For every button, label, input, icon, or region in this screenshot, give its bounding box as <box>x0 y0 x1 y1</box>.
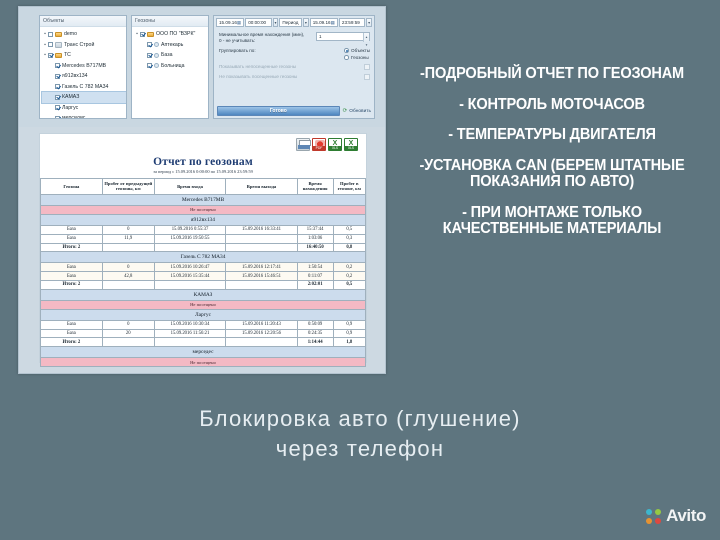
cell-4: 0:11:07 <box>297 272 333 281</box>
pdf-icon[interactable] <box>312 138 326 151</box>
total-cell-0: Итого: 2 <box>41 243 103 252</box>
cell-3: 15.09.2016 12:17:41 <box>226 263 298 272</box>
period-select[interactable]: Период <box>279 18 302 27</box>
total-cell-3 <box>226 338 298 347</box>
total-cell-5: 0,5 <box>333 280 366 289</box>
cell-5: 0,9 <box>333 329 366 338</box>
cell-4: 0:50:09 <box>297 320 333 329</box>
date-range-row[interactable]: ▦ 15.09.16 00:00:00 ▾ Период ▾ ▦ 15.09.1… <box>214 16 374 27</box>
group-name: КАМАЗ <box>41 289 366 300</box>
checkbox-icon[interactable] <box>55 105 60 110</box>
refresh-button[interactable]: ⟳ Обновить <box>343 108 371 114</box>
ad-image-root: Объекты ▪demo▪Транс Строй▪ТСMercedes B71… <box>0 0 720 540</box>
export-toolbar[interactable] <box>296 138 358 151</box>
cell-1: 0 <box>102 320 154 329</box>
cell-3: 15.09.2016 11:20:43 <box>226 320 298 329</box>
time-from-stepper[interactable]: ▾ <box>273 18 279 27</box>
cell-5: 0,9 <box>333 320 366 329</box>
geozones-panel-title: Геозоны <box>132 16 208 27</box>
cell-2: 15.09.2016 10:26:47 <box>154 263 226 272</box>
table-row: База11,915.09.2016 19:50:551:03:060,3 <box>41 234 366 243</box>
checkbox-icon[interactable] <box>55 95 60 100</box>
not-visited-row: Не посещено <box>41 300 366 309</box>
tree-item-label: ТС <box>64 50 71 61</box>
not-visited-label: Не посещено <box>41 300 366 309</box>
not-visited-row: Не посещено <box>41 205 366 214</box>
group-name: Mercedes B717MB <box>41 194 366 205</box>
object-item-4[interactable]: я912вх134 <box>42 71 126 82</box>
folder-gray-icon <box>55 42 62 48</box>
geozone-item-1[interactable]: Аптекарь <box>134 40 208 51</box>
ad-bullet-2: - Температуры двигателя <box>402 127 703 144</box>
geozone-report-table: ГеозонаПробег от предыдущей геозоны, кмВ… <box>40 178 366 367</box>
time-to-input[interactable]: 23:59:59 <box>339 18 365 27</box>
checkbox-icon[interactable] <box>140 32 145 37</box>
tree-item-label: Больница <box>161 61 185 72</box>
cell-3: 15.09.2016 15:46:51 <box>226 272 298 281</box>
tree-item-label: КАМАЗ <box>62 92 79 103</box>
report-sheet: Отчет по геозонам за период с 15.09.2016… <box>39 133 367 363</box>
total-cell-0: Итого: 2 <box>41 338 103 347</box>
options-body: Минимальное время нахождения (мин), 0 - … <box>214 27 374 80</box>
period-dropdown-icon[interactable]: ▾ <box>303 18 309 27</box>
table-row: База015.09.2016 0:55:3715.09.2016 16:33:… <box>41 226 366 235</box>
total-cell-4: 2:02:01 <box>297 280 333 289</box>
checkbox-icon[interactable] <box>55 63 60 68</box>
cell-5: 0,5 <box>333 226 366 235</box>
group-header-row: Ларгус <box>41 309 366 320</box>
show-unvisited-row: Показывать непосещенные геозоны <box>219 64 370 70</box>
avito-label: Avito <box>666 506 706 526</box>
cell-0: База <box>41 234 103 243</box>
hide-visited-checkbox <box>364 74 370 80</box>
report-options-panel[interactable]: ▦ 15.09.16 00:00:00 ▾ Период ▾ ▦ 15.09.1… <box>213 15 375 119</box>
tree-item-label: Ларгус <box>62 103 78 114</box>
ad-bottom-line-2: через телефон <box>0 434 720 464</box>
cell-5: 0,2 <box>333 263 366 272</box>
checkbox-icon[interactable] <box>147 63 152 68</box>
total-cell-0: Итого: 2 <box>41 280 103 289</box>
total-cell-1 <box>102 338 154 347</box>
cell-2: 15.09.2016 0:55:37 <box>154 226 226 235</box>
geozone-item-3[interactable]: Больница <box>134 61 208 72</box>
table-row: База2015.09.2016 11:56:2115.09.2016 12:2… <box>41 329 366 338</box>
group-by-radios[interactable]: Объекты Геозоны <box>344 48 370 60</box>
total-cell-4: 16:40:50 <box>297 243 333 252</box>
object-item-2[interactable]: ▪ТС <box>42 50 126 61</box>
column-header-4: Время нахождения <box>297 179 333 195</box>
hide-visited-label: Не показывать посещенные геозоны <box>219 74 297 80</box>
avito-logo-icon <box>646 509 661 524</box>
print-icon[interactable] <box>296 138 310 151</box>
cell-1: 20 <box>102 329 154 338</box>
radio-group-geozones[interactable]: Геозоны <box>344 55 370 60</box>
folder-icon <box>55 53 62 59</box>
checkbox-icon[interactable] <box>48 42 53 47</box>
column-header-5: Пробег в геозоне, км <box>333 179 366 195</box>
refresh-icon: ⟳ <box>343 108 348 114</box>
total-cell-1 <box>102 243 154 252</box>
total-cell-4: 1:14:44 <box>297 338 333 347</box>
ad-bullet-0: -Подробный отчет по геозонам <box>402 66 703 83</box>
tree-item-label: Mercedes B717MB <box>62 61 106 72</box>
total-cell-1 <box>102 280 154 289</box>
cell-0: База <box>41 320 103 329</box>
group-header-row: я912вх134 <box>41 215 366 226</box>
cell-3: 15.09.2016 12:20:56 <box>226 329 298 338</box>
min-time-value: 1 <box>317 33 369 41</box>
table-row: База015.09.2016 10:26:4715.09.2016 12:17… <box>41 263 366 272</box>
geozone-icon <box>154 53 159 58</box>
object-item-0[interactable]: ▪demo <box>42 29 126 40</box>
group-header-row: Газель С 782 МА34 <box>41 252 366 263</box>
checkbox-icon[interactable] <box>147 42 152 47</box>
geozone-icon <box>154 42 159 47</box>
checkbox-icon[interactable] <box>147 53 152 58</box>
column-header-0: Геозона <box>41 179 103 195</box>
total-cell-3 <box>226 243 298 252</box>
geozones-tree-panel[interactable]: Геозоны ▪ООО ПО "ВЗРК"АптекарьБазаБольни… <box>131 15 209 119</box>
min-time-row[interactable]: Минимальное время нахождения (мин), 0 - … <box>219 32 370 44</box>
checkbox-icon[interactable] <box>55 116 60 119</box>
ad-bullet-3: -Установка CAN (берем штатные показания … <box>402 158 703 191</box>
min-time-label: Минимальное время нахождения (мин), 0 - … <box>219 32 307 44</box>
group-name: я912вх134 <box>41 215 366 226</box>
checkbox-icon[interactable] <box>48 32 53 37</box>
not-visited-label: Не посещено <box>41 205 366 214</box>
show-unvisited-label: Показывать непосещенные геозоны <box>219 64 296 70</box>
cell-3 <box>226 234 298 243</box>
date-to-input[interactable]: ▦ 15.09.16 <box>310 18 338 27</box>
ad-bullet-list: -Подробный отчет по геозонам- Контроль м… <box>392 66 712 252</box>
cell-0: База <box>41 329 103 338</box>
cell-2: 15.09.2016 10:30:34 <box>154 320 226 329</box>
cell-5: 0,2 <box>333 272 366 281</box>
group-name: мерседес <box>41 347 366 358</box>
not-visited-label: Не посещено <box>41 358 366 367</box>
group-name: Ларгус <box>41 309 366 320</box>
table-row: База42,815.09.2016 15:35:4415.09.2016 15… <box>41 272 366 281</box>
objects-tree[interactable]: ▪demo▪Транс Строй▪ТСMercedes B717MBя912в… <box>40 27 126 119</box>
object-item-6[interactable]: КАМАЗ <box>42 92 126 103</box>
radio-off-icon[interactable] <box>344 55 349 60</box>
cell-4: 0:24:35 <box>297 329 333 338</box>
geozones-tree[interactable]: ▪ООО ПО "ВЗРК"АптекарьБазаБольница <box>132 27 208 71</box>
cell-1: 0 <box>102 226 154 235</box>
column-header-2: Время входа <box>154 179 226 195</box>
group-header-row: мерседес <box>41 347 366 358</box>
cell-4: 15:37:44 <box>297 226 333 235</box>
time-to-stepper[interactable]: ▾ <box>366 18 372 27</box>
group-total-row: Итого: 216:40:500,8 <box>41 243 366 252</box>
table-row: База015.09.2016 10:30:3415.09.2016 11:20… <box>41 320 366 329</box>
cell-1: 0 <box>102 263 154 272</box>
cell-4: 1:03:06 <box>297 234 333 243</box>
cell-4: 1:50:54 <box>297 263 333 272</box>
total-cell-2 <box>154 338 226 347</box>
show-unvisited-checkbox <box>364 64 370 70</box>
ad-bottom-line-1: Блокировка авто (глушение) <box>0 404 720 434</box>
object-item-8[interactable]: мерсидис <box>42 113 126 119</box>
avito-watermark: Avito <box>646 506 706 526</box>
object-item-1[interactable]: ▪Транс Строй <box>42 40 126 51</box>
submit-button[interactable]: Готово <box>217 106 340 116</box>
folder-icon <box>55 32 62 38</box>
calendar-icon[interactable]: ▦ <box>237 19 241 27</box>
time-from-input[interactable]: 00:00:00 <box>245 18 271 27</box>
ad-bullet-1: - Контроль моточасов <box>402 97 703 114</box>
min-time-stepper[interactable]: ▴▾ <box>363 33 369 42</box>
group-name: Газель С 782 МА34 <box>41 252 366 263</box>
options-button-bar[interactable]: Готово ⟳ Обновить <box>214 104 374 118</box>
hide-visited-row: Не показывать посещенные геозоны <box>219 74 370 80</box>
cell-5: 0,3 <box>333 234 366 243</box>
table-body: Mercedes B717MBНе посещеноя912вх134База0… <box>41 194 366 367</box>
total-cell-5: 1,8 <box>333 338 366 347</box>
group-total-row: Итого: 22:02:010,5 <box>41 280 366 289</box>
total-cell-3 <box>226 280 298 289</box>
cell-1: 11,9 <box>102 234 154 243</box>
geozone-item-0[interactable]: ▪ООО ПО "ВЗРК" <box>134 29 208 40</box>
not-visited-row: Не посещено <box>41 358 366 367</box>
tree-item-label: Газель С 782 МА34 <box>62 82 108 93</box>
xlsx-icon[interactable] <box>344 138 358 151</box>
tree-item-label: Транс Строй <box>64 40 94 51</box>
cell-2: 15.09.2016 15:35:44 <box>154 272 226 281</box>
checkbox-icon[interactable] <box>55 74 60 79</box>
table-header-row: ГеозонаПробег от предыдущей геозоны, кмВ… <box>41 179 366 195</box>
radio-on-icon[interactable] <box>344 48 349 53</box>
report-subtitle: за период с 15.09.2016 0:00:00 по 15.09.… <box>40 168 366 178</box>
group-header-row: КАМАЗ <box>41 289 366 300</box>
tree-item-label: мерсидис <box>62 113 85 119</box>
cell-1: 42,8 <box>102 272 154 281</box>
refresh-label: Обновить <box>349 109 371 114</box>
total-cell-2 <box>154 243 226 252</box>
tree-item-label: ООО ПО "ВЗРК" <box>156 29 195 40</box>
group-by-row[interactable]: Группировать по: Объекты Геозоны <box>219 48 370 60</box>
cell-2: 15.09.2016 11:56:21 <box>154 329 226 338</box>
ad-bottom-text: Блокировка авто (глушение) через телефон <box>0 404 720 464</box>
column-header-3: Время выхода <box>226 179 298 195</box>
group-header-row: Mercedes B717MB <box>41 194 366 205</box>
objects-panel-title: Объекты <box>40 16 126 27</box>
tree-item-label: Аптекарь <box>161 40 183 51</box>
checkbox-icon[interactable] <box>48 53 53 58</box>
cell-0: База <box>41 226 103 235</box>
objects-tree-panel[interactable]: Объекты ▪demo▪Транс Строй▪ТСMercedes B71… <box>39 15 127 119</box>
object-item-5[interactable]: Газель С 782 МА34 <box>42 82 126 93</box>
group-total-row: Итого: 21:14:441,8 <box>41 338 366 347</box>
cell-3: 15.09.2016 16:33:41 <box>226 226 298 235</box>
ad-bullet-4: - При монтаже только качественные матери… <box>402 205 703 238</box>
geozone-item-2[interactable]: База <box>134 50 208 61</box>
tree-item-label: я912вх134 <box>62 71 87 82</box>
object-item-3[interactable]: Mercedes B717MB <box>42 61 126 72</box>
object-item-7[interactable]: Ларгус <box>42 103 126 114</box>
total-cell-5: 0,8 <box>333 243 366 252</box>
tree-item-label: База <box>161 50 173 61</box>
date-from-input[interactable]: ▦ 15.09.16 <box>216 18 244 27</box>
group-by-label: Группировать по: <box>219 48 256 54</box>
min-time-input[interactable]: 1 ▴▾ <box>316 32 370 41</box>
tree-item-label: demo <box>64 29 77 40</box>
cell-2: 15.09.2016 19:50:55 <box>154 234 226 243</box>
folder-icon <box>147 32 154 38</box>
cell-0: База <box>41 272 103 281</box>
calendar-icon-2[interactable]: ▦ <box>331 19 335 27</box>
cell-0: База <box>41 263 103 272</box>
geozone-icon <box>154 63 159 68</box>
column-header-1: Пробег от предыдущей геозоны, км <box>102 179 154 195</box>
total-cell-2 <box>154 280 226 289</box>
checkbox-icon[interactable] <box>55 84 60 89</box>
xls-icon[interactable] <box>328 138 342 151</box>
tracking-app-window: Объекты ▪demo▪Транс Строй▪ТСMercedes B71… <box>18 6 386 374</box>
